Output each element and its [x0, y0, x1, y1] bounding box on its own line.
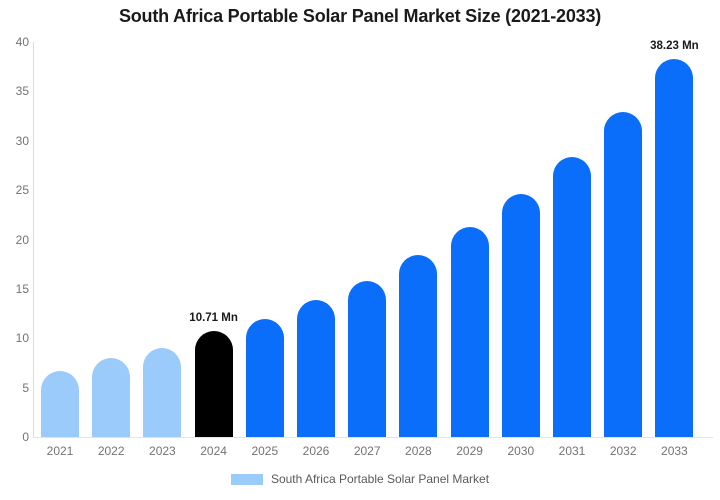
x-tick-label-2033: 2033	[651, 445, 697, 457]
bar-rect-2032[interactable]	[604, 112, 642, 437]
bar-2029[interactable]	[451, 0, 489, 437]
bar-rect-2028[interactable]	[399, 255, 437, 437]
y-tick-label: 20	[3, 234, 29, 246]
x-tick-label-2031: 2031	[549, 445, 595, 457]
bar-2022[interactable]	[92, 0, 130, 437]
bar-2021[interactable]	[41, 0, 79, 437]
bar-2031[interactable]	[553, 0, 591, 437]
y-tick-label: 25	[3, 184, 29, 196]
x-axis-line	[33, 437, 713, 438]
y-tick-label: 30	[3, 135, 29, 147]
x-tick-label-2022: 2022	[88, 445, 134, 457]
bar-rect-2029[interactable]	[451, 227, 489, 437]
x-tick-label-2021: 2021	[37, 445, 83, 457]
bar-value-label-2024: 10.71 Mn	[189, 313, 238, 325]
bar-2024[interactable]: 10.71 Mn	[195, 0, 233, 437]
bar-value-label-2033: 38.23 Mn	[650, 41, 699, 53]
bar-rect-2024[interactable]	[195, 331, 233, 437]
bar-2025[interactable]	[246, 0, 284, 437]
x-tick-label-2030: 2030	[498, 445, 544, 457]
bar-rect-2031[interactable]	[553, 157, 591, 437]
x-tick-label-2027: 2027	[344, 445, 390, 457]
bar-rect-2021[interactable]	[41, 371, 79, 437]
x-tick-label-2032: 2032	[600, 445, 646, 457]
x-tick-label-2024: 2024	[191, 445, 237, 457]
y-axis: 0510152025303540	[0, 0, 29, 500]
bar-rect-2027[interactable]	[348, 281, 386, 437]
bar-2026[interactable]	[297, 0, 335, 437]
bar-2032[interactable]	[604, 0, 642, 437]
y-tick-label: 10	[3, 332, 29, 344]
bar-2028[interactable]	[399, 0, 437, 437]
bar-rect-2023[interactable]	[143, 348, 181, 437]
y-tick-label: 40	[3, 36, 29, 48]
y-tick-label: 5	[3, 382, 29, 394]
chart-container: South Africa Portable Solar Panel Market…	[0, 0, 720, 500]
y-tick-label: 15	[3, 283, 29, 295]
y-tick-label: 35	[3, 85, 29, 97]
bar-rect-2030[interactable]	[502, 194, 540, 437]
x-tick-label-2029: 2029	[447, 445, 493, 457]
bar-2033[interactable]: 38.23 Mn	[655, 0, 693, 437]
bar-rect-2022[interactable]	[92, 358, 130, 437]
legend-label-market: South Africa Portable Solar Panel Market	[271, 473, 489, 485]
bar-2030[interactable]	[502, 0, 540, 437]
legend-swatch-market	[231, 474, 263, 485]
bar-2027[interactable]	[348, 0, 386, 437]
x-tick-label-2025: 2025	[242, 445, 288, 457]
x-tick-label-2026: 2026	[293, 445, 339, 457]
bar-2023[interactable]	[143, 0, 181, 437]
x-tick-label-2028: 2028	[395, 445, 441, 457]
chart-legend[interactable]: South Africa Portable Solar Panel Market	[0, 473, 720, 485]
bar-rect-2026[interactable]	[297, 300, 335, 437]
bar-rect-2025[interactable]	[246, 319, 284, 438]
x-tick-label-2023: 2023	[139, 445, 185, 457]
y-tick-label: 0	[3, 431, 29, 443]
bar-rect-2033[interactable]	[655, 59, 693, 437]
